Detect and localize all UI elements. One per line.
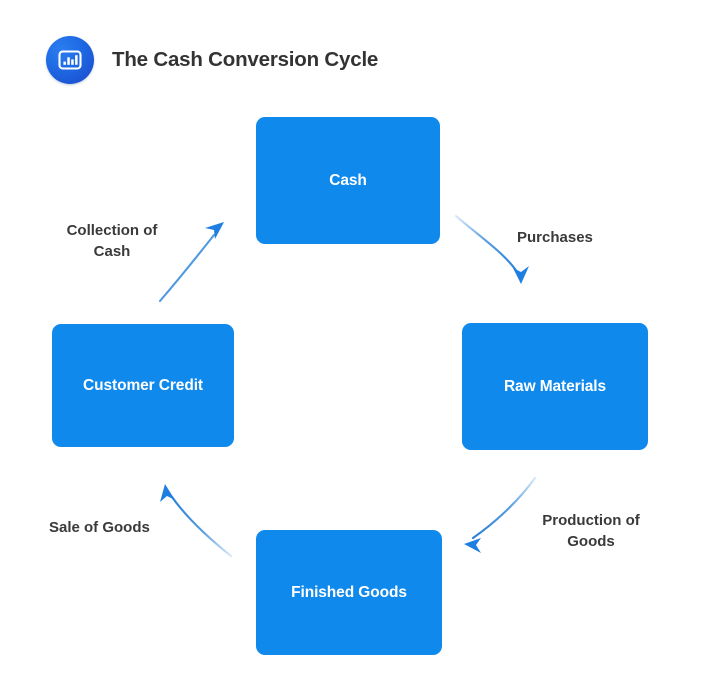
node-cash-label: Cash xyxy=(329,172,367,190)
diagram-canvas: The Cash Conversion Cycle xyxy=(0,0,720,673)
arrow-sale-of-goods xyxy=(160,484,231,556)
edge-label-collection-of-cash: Collection of Cash xyxy=(46,221,178,262)
node-finished-goods-label: Finished Goods xyxy=(291,584,407,602)
edge-label-purchases: Purchases xyxy=(517,228,593,249)
arrow-purchases xyxy=(456,216,529,284)
bar-chart-icon xyxy=(46,36,94,84)
node-cash[interactable]: Cash xyxy=(256,117,440,244)
edge-label-sale-of-goods: Sale of Goods xyxy=(49,518,150,539)
header: The Cash Conversion Cycle xyxy=(46,36,378,84)
edge-label-production-of-goods: Production of Goods xyxy=(515,511,667,552)
page-title: The Cash Conversion Cycle xyxy=(112,48,378,72)
node-raw-materials-label: Raw Materials xyxy=(504,378,606,396)
node-raw-materials[interactable]: Raw Materials xyxy=(462,323,648,450)
node-customer-credit-label: Customer Credit xyxy=(83,377,203,395)
node-customer-credit[interactable]: Customer Credit xyxy=(52,324,234,447)
node-finished-goods[interactable]: Finished Goods xyxy=(256,530,442,655)
